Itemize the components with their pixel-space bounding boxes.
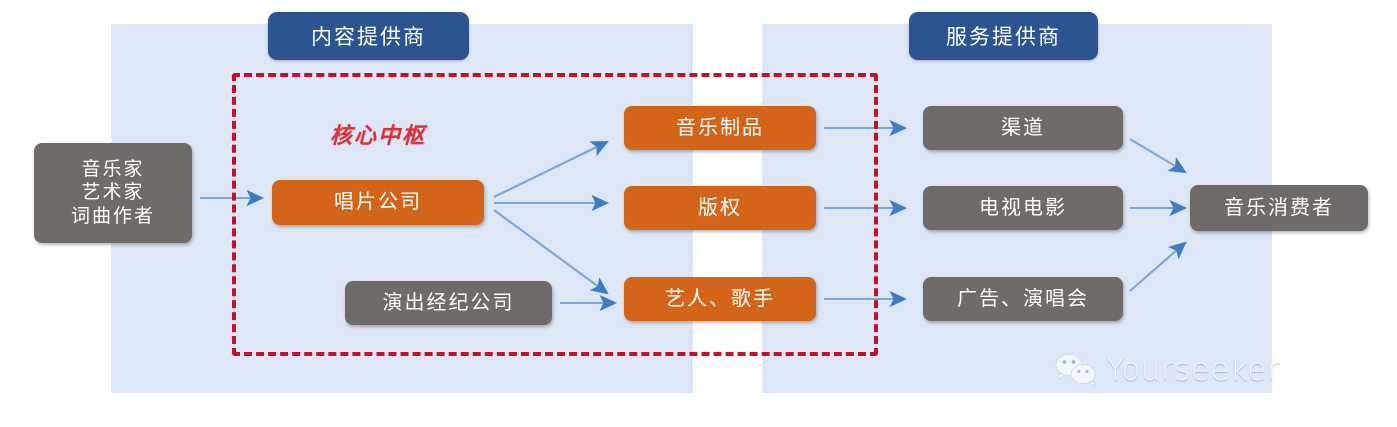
node-ads-concerts: 广告、演唱会 (923, 277, 1123, 321)
node-artists: 艺人、歌手 (624, 277, 816, 321)
node-music-products: 音乐制品 (624, 106, 816, 150)
node-artists-label: 艺人、歌手 (665, 287, 775, 312)
node-creators: 音乐家 艺术家 词曲作者 (34, 143, 192, 243)
node-copyright-label: 版权 (698, 196, 742, 221)
node-creators-line-3: 词曲作者 (71, 205, 155, 228)
node-tv-film: 电视电影 (923, 186, 1123, 230)
node-channel-label: 渠道 (1001, 116, 1045, 141)
node-consumers-label: 音乐消费者 (1224, 196, 1334, 221)
node-record-company: 唱片公司 (272, 180, 484, 225)
diagram-canvas: 内容提供商 服务提供商 核心中枢 音乐家 艺术家 词曲作者 唱片公司 演出经纪公… (0, 0, 1397, 427)
node-consumers: 音乐消费者 (1190, 185, 1368, 231)
node-record-company-label: 唱片公司 (334, 190, 422, 215)
header-service-provider: 服务提供商 (909, 12, 1098, 60)
header-content-provider: 内容提供商 (268, 12, 469, 60)
core-hub-label: 核心中枢 (330, 118, 426, 150)
node-tv-film-label: 电视电影 (979, 196, 1067, 221)
node-copyright: 版权 (624, 186, 816, 230)
node-creators-line-1: 音乐家 (81, 158, 144, 181)
node-agency-label: 演出经纪公司 (383, 291, 515, 316)
header-service-provider-label: 服务提供商 (946, 21, 1061, 51)
node-music-products-label: 音乐制品 (676, 116, 764, 141)
node-creators-line-2: 艺术家 (81, 181, 144, 204)
header-content-provider-label: 内容提供商 (311, 21, 426, 51)
watermark: Yourseeker (1055, 352, 1280, 388)
node-channel: 渠道 (923, 106, 1123, 150)
watermark-text: Yourseeker (1106, 352, 1280, 388)
node-ads-concerts-label: 广告、演唱会 (957, 287, 1089, 312)
wechat-icon (1055, 353, 1097, 387)
node-agency: 演出经纪公司 (345, 281, 552, 325)
